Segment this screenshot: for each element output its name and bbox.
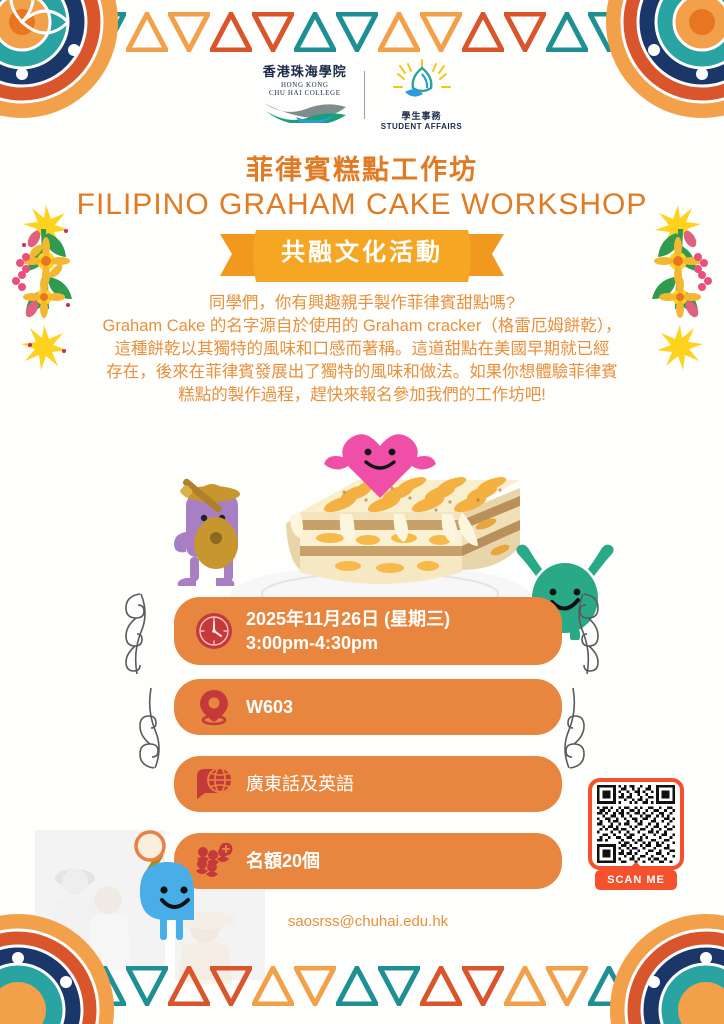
qr-frame[interactable]: [588, 778, 684, 870]
description-line: 這種餅乾以其獨特的風味和口感而著稱。這道甜點在美國早期就已經: [52, 338, 672, 361]
purple-guitar-character: [174, 478, 240, 586]
detail-text-quota: 名額20個: [240, 849, 320, 873]
qr-matrix: [597, 785, 675, 863]
contact-email[interactable]: saosrss@chuhai.edu.hk: [174, 913, 562, 930]
college-logo-en1: HONG KONG: [262, 81, 348, 89]
clock-icon: [188, 611, 240, 651]
detail-pill-venue: W603: [174, 679, 562, 735]
detail-line1: 名額20個: [246, 851, 320, 871]
description-line: 糕點的製作過程，趕快來報名參加我們的工作坊吧!: [52, 384, 672, 407]
student-affairs-chinese: 學生事務: [381, 109, 462, 122]
logo-divider: [364, 71, 365, 119]
ribbon-label: 共融文化活動: [0, 232, 724, 267]
registration-qr-code[interactable]: SCAN ME: [588, 778, 684, 890]
college-logo-en2: CHU HAI COLLEGE: [262, 89, 348, 97]
mandala-corner-ornament: [606, 910, 724, 1024]
qr-pointer: [625, 862, 647, 872]
detail-line1: 廣東話及英語: [246, 774, 354, 794]
detail-text-venue: W603: [240, 695, 293, 719]
description-paragraph: 同學們，你有興趣親手製作菲律賓甜點嗎? Graham Cake 的名字源自於使用…: [52, 292, 672, 407]
detail-text-language: 廣東話及英語: [240, 772, 354, 796]
student-affairs-sun-mark: [385, 58, 459, 104]
logo-bar: 香港珠海學院 HONG KONG CHU HAI COLLEGE: [0, 58, 724, 131]
swirl-flourish-ornament: [118, 672, 182, 782]
detail-line1: 2025年11月26日 (星期三): [246, 609, 450, 629]
student-affairs-english: STUDENT AFFAIRS: [381, 122, 462, 131]
detail-text-datetime: 2025年11月26日 (星期三) 3:00pm-4:30pm: [240, 607, 450, 655]
hong-kong-chu-hai-college-logo: 香港珠海學院 HONG KONG CHU HAI COLLEGE: [262, 61, 348, 128]
qr-scan-label: SCAN ME: [595, 870, 677, 890]
student-affairs-logo: 學生事務 STUDENT AFFAIRS: [381, 58, 462, 131]
language-globe-icon: [188, 766, 240, 802]
description-line: Graham Cake 的名字源自於使用的 Graham cracker（格雷厄…: [52, 315, 672, 338]
description-line: 存在，後來在菲律賓發展出了獨特的風味和做法。如果你想體驗菲律賓: [52, 361, 672, 384]
college-logo-chinese: 香港珠海學院: [262, 61, 348, 80]
location-pin-icon: [188, 688, 240, 726]
poster-root: 香港珠海學院 HONG KONG CHU HAI COLLEGE: [0, 0, 724, 1024]
mandala-corner-ornament: [0, 910, 118, 1024]
detail-pill-datetime: 2025年11月26日 (星期三) 3:00pm-4:30pm: [174, 597, 562, 665]
detail-line1: W603: [246, 697, 293, 717]
detail-line2: 3:00pm-4:30pm: [246, 631, 450, 655]
college-wave-mark: [262, 97, 348, 123]
description-line: 同學們，你有興趣親手製作菲律賓甜點嗎?: [52, 292, 672, 315]
page-title-chinese: 菲律賓糕點工作坊: [0, 148, 724, 187]
detail-pill-quota: 名額20個: [174, 833, 562, 889]
detail-pill-language: 廣東話及英語: [174, 756, 562, 812]
page-title-english: FILIPINO GRAHAM CAKE WORKSHOP: [0, 188, 724, 222]
